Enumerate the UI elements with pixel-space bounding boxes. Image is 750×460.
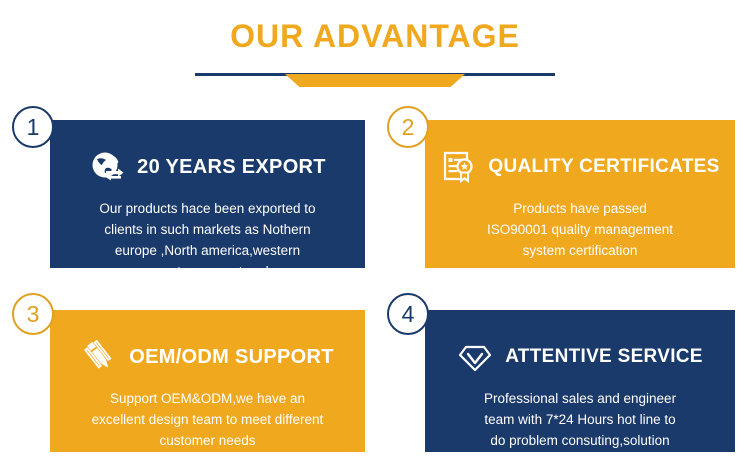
card-description: Products have passed ISO90001 quality ma…	[447, 198, 713, 261]
advantage-card-3[interactable]: OEM/ODM SUPPORT Support OEM&ODM,we have …	[50, 310, 365, 452]
card-description-line: excellent design team to meet different	[78, 409, 337, 430]
card-description: Our products hace been exported to clien…	[72, 198, 343, 282]
card-content: OEM/ODM SUPPORT Support OEM&ODM,we have …	[50, 310, 365, 452]
card-number-badge-3: 3	[12, 293, 54, 335]
card-heading-row: OEM/ODM SUPPORT	[72, 336, 343, 378]
advantage-card-1[interactable]: 20 YEARS EXPORT Our products hace been e…	[50, 120, 365, 268]
card-description-line: Products have passed	[453, 198, 707, 219]
title-divider	[195, 70, 555, 90]
card-description-line: Support OEM&ODM,we have an	[78, 388, 337, 409]
card-description-line: do problem consuting,solution	[453, 430, 707, 451]
card-number-badge-4: 4	[387, 293, 429, 335]
card-heading: 20 YEARS EXPORT	[137, 156, 326, 179]
card-number-badge-2: 2	[387, 106, 429, 148]
divider-tab	[285, 74, 465, 87]
card-number-badge-1: 1	[12, 106, 54, 148]
advantage-section: OUR ADVANTAGE	[0, 0, 750, 460]
card-heading: OEM/ODM SUPPORT	[129, 346, 334, 369]
card-description-line: system certification	[453, 240, 707, 261]
globe-exchange-icon	[89, 149, 125, 185]
card-description-line: europe ,North america,western	[78, 240, 337, 261]
card-description-line: europe,eastern europt and so on	[78, 261, 337, 282]
card-description-line: Our products hace been exported to	[78, 198, 337, 219]
pencil-ruler-icon	[81, 339, 117, 375]
card-heading: ATTENTIVE SERVICE	[505, 346, 703, 368]
card-content: ATTENTIVE SERVICE Professional sales and…	[425, 310, 735, 452]
card-heading-row: QUALITY CERTIFICATES	[447, 146, 713, 188]
diamond-check-icon	[457, 339, 493, 375]
advantage-card-4[interactable]: ATTENTIVE SERVICE Professional sales and…	[425, 310, 735, 452]
card-description-line: ISO90001 quality management	[453, 219, 707, 240]
card-description-line: customer needs	[78, 430, 337, 451]
card-content: 20 YEARS EXPORT Our products hace been e…	[50, 120, 365, 268]
card-heading: QUALITY CERTIFICATES	[488, 156, 719, 178]
page-title: OUR ADVANTAGE	[0, 18, 750, 54]
section-header: OUR ADVANTAGE	[0, 0, 750, 92]
certificate-seal-icon	[440, 149, 476, 185]
card-description-line: team with 7*24 Hours hot line to	[453, 409, 707, 430]
card-description-line: Professional sales and engineer	[453, 388, 707, 409]
advantage-card-2[interactable]: QUALITY CERTIFICATES Products have passe…	[425, 120, 735, 268]
card-description: Professional sales and engineer team wit…	[447, 388, 713, 451]
card-heading-row: ATTENTIVE SERVICE	[447, 336, 713, 378]
card-content: QUALITY CERTIFICATES Products have passe…	[425, 120, 735, 268]
card-heading-row: 20 YEARS EXPORT	[72, 146, 343, 188]
card-description: Support OEM&ODM,we have an excellent des…	[72, 388, 343, 451]
card-description-line: clients in such markets as Nothern	[78, 219, 337, 240]
